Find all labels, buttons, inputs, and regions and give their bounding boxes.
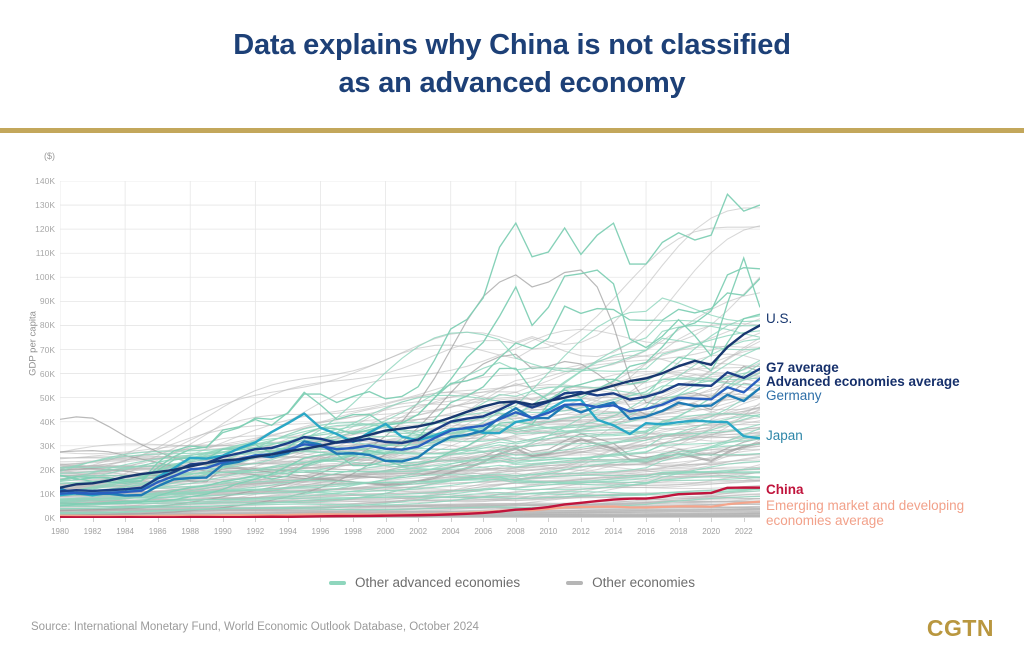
x-axis-tick-mark xyxy=(158,518,159,522)
legend-item[interactable]: Other economies xyxy=(566,575,695,590)
y-axis-tick: 120K xyxy=(35,224,55,234)
x-axis-tick: 2004 xyxy=(442,527,460,536)
x-axis-tick-mark xyxy=(516,518,517,522)
x-axis-tick-mark xyxy=(320,518,321,522)
x-axis-tick: 1988 xyxy=(181,527,199,536)
x-axis-tick-mark xyxy=(93,518,94,522)
x-axis-tick: 1996 xyxy=(312,527,330,536)
series-label-china: China xyxy=(766,482,804,498)
y-axis-tick: 40K xyxy=(40,417,55,427)
chart-page: Data explains why China is not classifie… xyxy=(0,0,1024,663)
plot-canvas: 0K10K20K30K40K50K60K70K80K90K100K110K120… xyxy=(60,181,760,518)
y-axis-tick: 110K xyxy=(36,248,55,258)
chart-svg xyxy=(60,181,760,518)
x-axis-tick: 2016 xyxy=(637,527,655,536)
x-axis-tick-mark xyxy=(190,518,191,522)
title-line-1: Data explains why China is not classifie… xyxy=(233,29,790,61)
x-axis-tick-mark xyxy=(386,518,387,522)
x-axis-tick-mark xyxy=(288,518,289,522)
x-axis-tick-mark xyxy=(548,518,549,522)
y-axis-tick: 130K xyxy=(35,200,55,210)
x-axis-tick-mark xyxy=(613,518,614,522)
legend-label: Other advanced economies xyxy=(355,575,520,590)
x-axis-tick-mark xyxy=(679,518,680,522)
y-axis-tick: 0K xyxy=(45,513,55,523)
y-axis-tick: 100K xyxy=(35,272,55,282)
cgtn-logo: CGTN xyxy=(927,615,994,642)
series-label-germany: Germany xyxy=(766,388,822,404)
legend-swatch-icon xyxy=(329,581,346,585)
y-axis-tick: 80K xyxy=(40,320,55,330)
y-axis-tick: 70K xyxy=(40,345,55,355)
x-axis-tick: 1994 xyxy=(279,527,297,536)
x-axis-tick: 2014 xyxy=(605,527,623,536)
x-axis-tick-mark xyxy=(125,518,126,522)
x-axis-tick: 2010 xyxy=(539,527,557,536)
series-label-emerging2: economies average xyxy=(766,513,884,529)
y-axis-tick: 140K xyxy=(35,176,55,186)
x-axis-tick: 2008 xyxy=(507,527,525,536)
x-axis-tick-mark xyxy=(451,518,452,522)
header: Data explains why China is not classifie… xyxy=(0,0,1024,128)
x-axis-tick: 1984 xyxy=(116,527,134,536)
y-axis-tick: 20K xyxy=(40,465,55,475)
x-axis-tick-mark xyxy=(581,518,582,522)
x-axis-tick: 1980 xyxy=(51,527,69,536)
x-axis-tick-mark xyxy=(353,518,354,522)
y-axis-tick: 30K xyxy=(40,441,55,451)
x-axis-tick: 2018 xyxy=(670,527,688,536)
y-axis-tick: 10K xyxy=(40,489,55,499)
source-note: Source: International Monetary Fund, Wor… xyxy=(31,621,479,633)
y-axis-tick: 60K xyxy=(40,369,55,379)
x-axis-tick: 1990 xyxy=(214,527,232,536)
title-line-2: as an advanced economy xyxy=(339,67,686,99)
x-axis-tick-mark xyxy=(646,518,647,522)
y-axis-tick: 90K xyxy=(40,296,55,306)
x-axis-tick: 2002 xyxy=(409,527,427,536)
page-title: Data explains why China is not classifie… xyxy=(233,26,790,103)
x-axis-tick-mark xyxy=(60,518,61,522)
chart-legend: Other advanced economiesOther economies xyxy=(0,575,1024,590)
x-axis-tick-mark xyxy=(223,518,224,522)
x-axis-tick: 1982 xyxy=(84,527,102,536)
x-axis-tick: 2000 xyxy=(377,527,395,536)
axis-unit-label: ($) xyxy=(44,151,55,161)
legend-item[interactable]: Other advanced economies xyxy=(329,575,520,590)
x-axis-tick-mark xyxy=(483,518,484,522)
x-axis-tick: 2012 xyxy=(572,527,590,536)
legend-swatch-icon xyxy=(566,581,583,585)
x-axis-tick: 2022 xyxy=(735,527,753,536)
footer: Source: International Monetary Fund, Wor… xyxy=(0,603,1024,663)
series-label-japan: Japan xyxy=(766,428,803,444)
x-axis-tick: 1992 xyxy=(246,527,264,536)
x-axis-tick-mark xyxy=(744,518,745,522)
x-axis-tick-mark xyxy=(255,518,256,522)
x-axis-tick-mark xyxy=(418,518,419,522)
y-axis-tick: 50K xyxy=(40,393,55,403)
series-label-us: U.S. xyxy=(766,311,792,327)
x-axis-tick: 1986 xyxy=(149,527,167,536)
x-axis-tick: 1998 xyxy=(344,527,362,536)
chart-area: ($) GDP per capita 0K10K20K30K40K50K60K7… xyxy=(0,133,1024,603)
x-axis-tick: 2006 xyxy=(474,527,492,536)
series-label-emerging1: Emerging market and developing xyxy=(766,498,964,514)
y-axis-title: GDP per capita xyxy=(28,284,39,404)
x-axis-tick-mark xyxy=(711,518,712,522)
legend-label: Other economies xyxy=(592,575,695,590)
x-axis-tick: 2020 xyxy=(702,527,720,536)
